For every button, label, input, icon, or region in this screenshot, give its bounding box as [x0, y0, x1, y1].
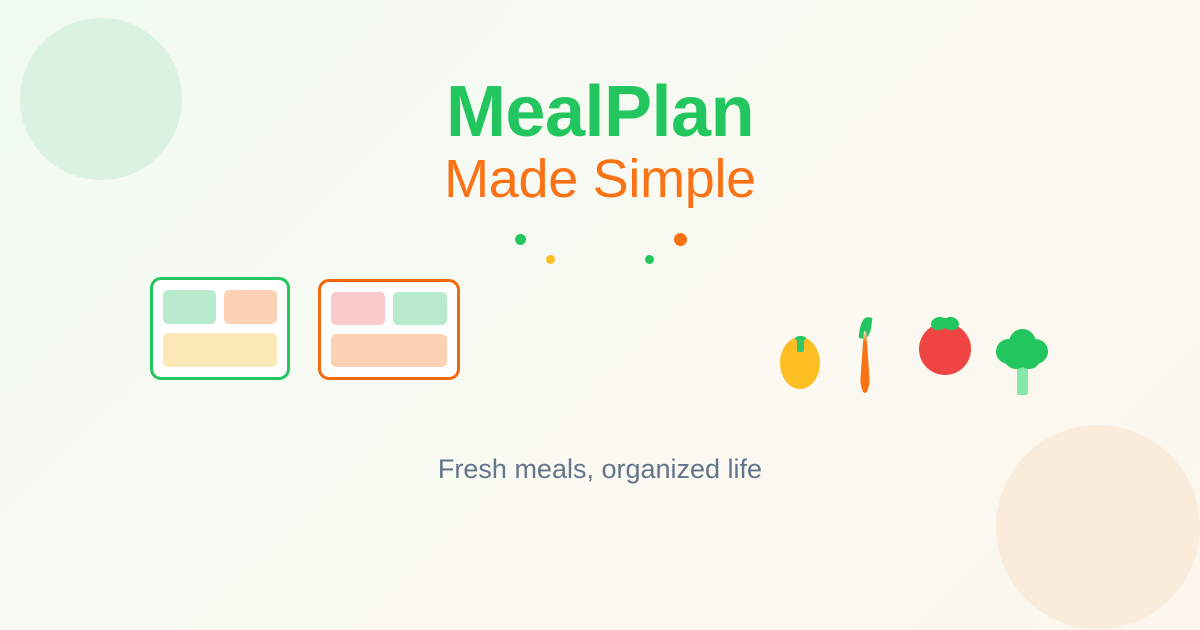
page-title: MealPlan	[0, 76, 1200, 148]
dot-green-right	[645, 255, 654, 264]
food-icon-row	[770, 300, 1070, 395]
card-row-top	[331, 292, 447, 325]
meal-plan-card-green[interactable]	[150, 277, 290, 380]
slot-dinner[interactable]	[331, 334, 447, 367]
meal-plan-card-orange[interactable]	[318, 279, 460, 380]
broccoli-crown	[996, 329, 1048, 373]
lemon-stem	[797, 338, 804, 352]
tomato-icon	[919, 317, 973, 375]
tomato-stem	[942, 318, 948, 326]
slot-breakfast[interactable]	[163, 290, 216, 324]
slot-lunch[interactable]	[224, 290, 277, 324]
tagline: Fresh meals, organized life	[0, 453, 1200, 485]
dot-yellow	[546, 255, 555, 264]
dot-green-left	[515, 234, 526, 245]
lemon-icon	[780, 337, 820, 389]
page-subtitle: Made Simple	[0, 152, 1200, 206]
tomato-body	[919, 323, 971, 375]
carrot-icon	[854, 317, 874, 393]
hero-content: MealPlan Made Simple	[0, 0, 1200, 630]
dot-orange	[674, 233, 687, 246]
slot-lunch[interactable]	[393, 292, 447, 325]
card-row-top	[163, 290, 277, 324]
slot-dinner[interactable]	[163, 333, 277, 367]
carrot-body	[860, 331, 870, 393]
slot-breakfast[interactable]	[331, 292, 385, 325]
broccoli-icon	[996, 329, 1050, 395]
